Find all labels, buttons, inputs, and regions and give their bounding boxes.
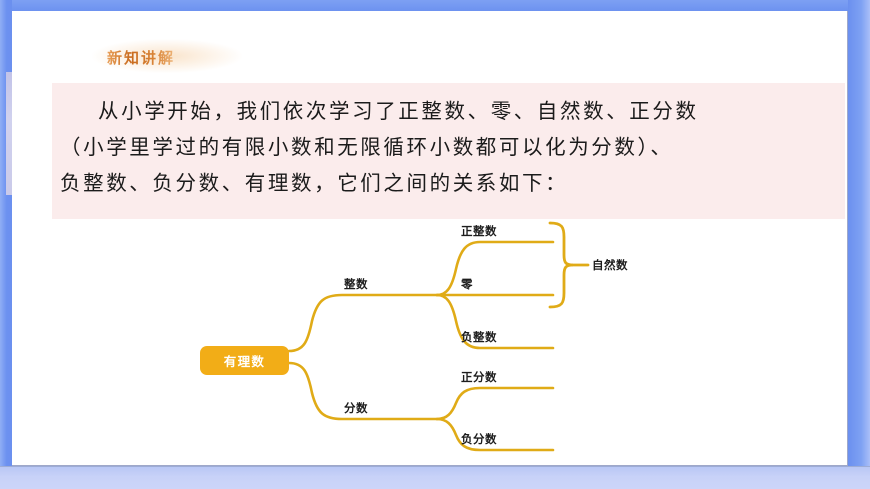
mindmap-root-label: 有理数 (224, 351, 265, 370)
mindmap-connectors (12, 11, 848, 466)
edge-integer-to-positive-integer (437, 242, 553, 295)
frame-edge-top (0, 0, 870, 11)
frame-edge-right (848, 0, 870, 489)
mindmap-node-positive-integer[interactable]: 正整数 (461, 223, 497, 239)
mindmap-node-zero[interactable]: 零 (461, 276, 473, 292)
mindmap-node-natural-number[interactable]: 自然数 (592, 257, 628, 273)
mindmap-node-fraction[interactable]: 分数 (344, 400, 368, 416)
mindmap-node-negative-fraction[interactable]: 负分数 (461, 431, 497, 447)
mindmap-node-integer[interactable]: 整数 (344, 276, 368, 292)
edge-root-to-integer (289, 295, 437, 351)
slide-canvas: 新知讲解 从小学开始，我们依次学习了正整数、零、自然数、正分数 （小学里学过的有… (12, 11, 848, 466)
rational-number-mindmap: 有理数 整数 分数 正整数 零 负整数 正分数 负分数 自然数 (12, 11, 848, 466)
slide-frame: 新知讲解 从小学开始，我们依次学习了正整数、零、自然数、正分数 （小学里学过的有… (0, 0, 870, 489)
edge-fraction-to-positive-fraction (437, 388, 553, 419)
mindmap-root-node-rational[interactable]: 有理数 (200, 346, 289, 375)
mindmap-node-negative-integer[interactable]: 负整数 (461, 329, 497, 345)
mindmap-node-positive-fraction[interactable]: 正分数 (461, 369, 497, 385)
frame-edge-bottom (0, 467, 870, 489)
